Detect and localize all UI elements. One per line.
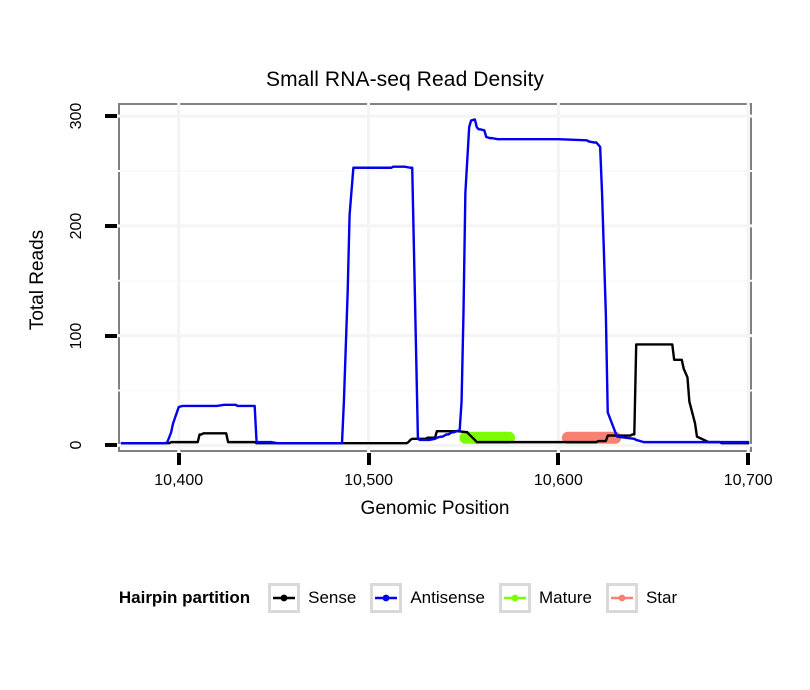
y-tick-label: 300: [68, 93, 86, 139]
legend-key-swatch: [606, 583, 638, 613]
legend-key-swatch: [499, 583, 531, 613]
x-tick-label: 10,600: [534, 472, 583, 490]
x-tick-mark: [367, 453, 371, 465]
legend-title: Hairpin partition: [119, 588, 250, 608]
legend-item-star[interactable]: Star: [606, 583, 677, 613]
y-tick-label: 0: [68, 422, 86, 468]
legend-item-sense[interactable]: Sense: [268, 583, 356, 613]
legend-item-antisense[interactable]: Antisense: [370, 583, 485, 613]
legend-item-label: Antisense: [410, 588, 485, 608]
gridlines: [118, 103, 752, 452]
legend-item-label: Mature: [539, 588, 592, 608]
y-tick-mark: [105, 334, 117, 338]
y-axis-label-text: Total Reads: [27, 180, 49, 380]
x-tick-mark: [556, 453, 560, 465]
y-tick-mark: [105, 114, 117, 118]
y-tick-label: 200: [68, 203, 86, 249]
chart-figure: Small RNA-seq Read Density Total Reads 0…: [0, 0, 810, 690]
legend: Hairpin partition SenseAntisenseMatureSt…: [0, 583, 810, 613]
series-line-sense: [122, 344, 748, 443]
legend-key-swatch: [370, 583, 402, 613]
legend-item-label: Star: [646, 588, 677, 608]
legend-key-swatch: [268, 583, 300, 613]
x-tick-mark: [746, 453, 750, 465]
y-tick-mark: [105, 443, 117, 447]
y-tick-label: 100: [68, 313, 86, 359]
plot-canvas: [118, 103, 752, 452]
x-tick-mark: [177, 453, 181, 465]
x-tick-label: 10,400: [154, 472, 203, 490]
legend-item-mature[interactable]: Mature: [499, 583, 592, 613]
y-axis-label: Total Reads: [27, 0, 49, 180]
legend-items: SenseAntisenseMatureStar: [268, 583, 691, 613]
y-tick-mark: [105, 224, 117, 228]
x-tick-label: 10,500: [344, 472, 393, 490]
legend-item-label: Sense: [308, 588, 356, 608]
x-axis-label: Genomic Position: [118, 498, 752, 520]
x-tick-label: 10,700: [724, 472, 773, 490]
chart-title: Small RNA-seq Read Density: [0, 68, 810, 92]
